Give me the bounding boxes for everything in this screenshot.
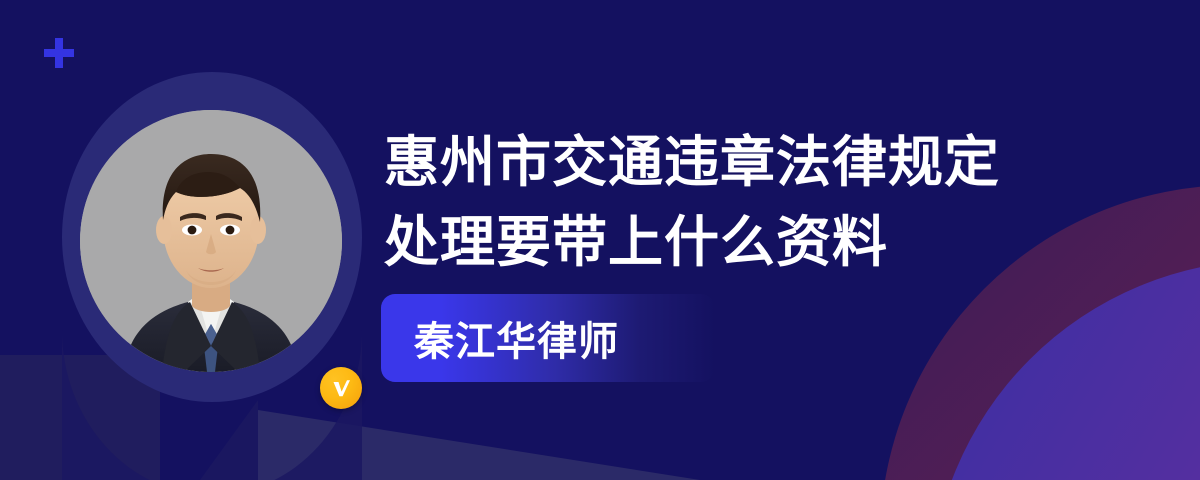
avatar-photo xyxy=(80,110,342,372)
verified-badge-icon xyxy=(320,367,362,409)
page-title: 惠州市交通违章法律规定 处理要带上什么资料 xyxy=(384,122,1084,282)
plus-icon xyxy=(44,38,74,68)
check-v-glyph xyxy=(329,376,353,400)
portrait-illustration xyxy=(80,110,342,372)
headline-line-2: 处理要带上什么资料 xyxy=(384,202,1084,282)
author-name: 秦江华律师 xyxy=(414,309,619,367)
headline-line-1: 惠州市交通违章法律规定 xyxy=(384,122,1084,202)
promo-banner: 惠州市交通违章法律规定 处理要带上什么资料 秦江华律师 xyxy=(0,0,1200,480)
author-name-badge: 秦江华律师 xyxy=(381,294,715,382)
avatar xyxy=(62,72,362,402)
plus-icon-vertical-bar xyxy=(55,38,63,68)
